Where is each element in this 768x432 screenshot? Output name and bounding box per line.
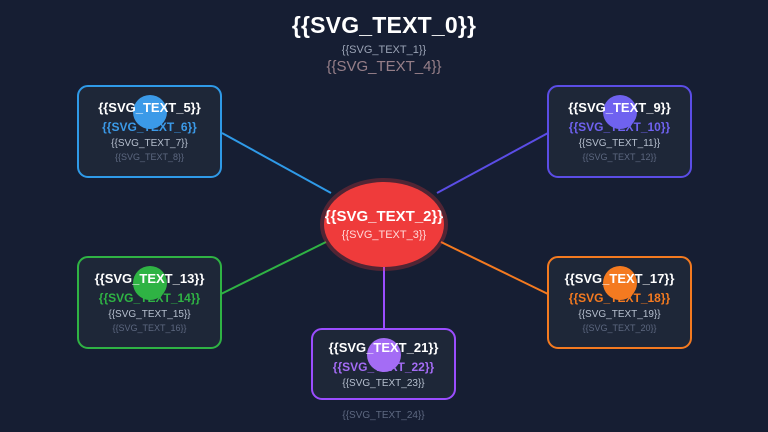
node-top-right-meta: {{SVG_TEXT_12}} [582,152,656,162]
edge-hub-bottom-right [441,242,548,294]
node-bottom-right[interactable]: {{SVG_TEXT_17}} {{SVG_TEXT_18}} {{SVG_TE… [547,256,692,349]
node-top-left-title: {{SVG_TEXT_5}} [98,101,201,115]
node-bottom-center-title: {{SVG_TEXT_21}} [329,341,439,355]
node-bottom-center-detail: {{SVG_TEXT_23}} [342,378,424,389]
node-bottom-left-detail: {{SVG_TEXT_15}} [108,309,190,320]
node-bottom-center-subtitle: {{SVG_TEXT_22}} [333,360,434,374]
edge-hub-bottom-left [221,242,326,294]
node-bottom-center[interactable]: {{SVG_TEXT_21}} {{SVG_TEXT_22}} {{SVG_TE… [311,328,456,400]
node-top-right-detail: {{SVG_TEXT_11}} [579,138,661,149]
node-bottom-right-detail: {{SVG_TEXT_19}} [578,309,660,320]
central-node-overflow-label: {{SVG_TEXT_4}} [326,58,441,75]
node-bottom-right-title: {{SVG_TEXT_17}} [565,272,675,286]
node-top-left-subtitle: {{SVG_TEXT_6}} [102,120,197,134]
node-top-left-detail: {{SVG_TEXT_7}} [111,138,188,149]
node-top-right-title: {{SVG_TEXT_9}} [568,101,671,115]
page-title: {{SVG_TEXT_0}} [0,12,768,39]
node-bottom-left-meta: {{SVG_TEXT_16}} [112,323,186,333]
node-bottom-center-caption: {{SVG_TEXT_24}} [311,410,456,421]
node-top-left-meta: {{SVG_TEXT_8}} [115,152,184,162]
node-bottom-left-subtitle: {{SVG_TEXT_14}} [99,291,200,305]
edge-hub-top-right [437,133,548,193]
central-node-subtitle: {{SVG_TEXT_3}} [342,229,426,241]
node-top-left[interactable]: {{SVG_TEXT_5}} {{SVG_TEXT_6}} {{SVG_TEXT… [77,85,222,178]
node-top-right-subtitle: {{SVG_TEXT_10}} [569,120,670,134]
node-bottom-right-subtitle: {{SVG_TEXT_18}} [569,291,670,305]
diagram-canvas: {{SVG_TEXT_0}} {{SVG_TEXT_1}} {{SVG_TEXT… [0,0,768,432]
central-node[interactable]: {{SVG_TEXT_2}} {{SVG_TEXT_3}} [324,182,444,267]
central-node-title: {{SVG_TEXT_2}} [325,208,443,225]
node-bottom-left[interactable]: {{SVG_TEXT_13}} {{SVG_TEXT_14}} {{SVG_TE… [77,256,222,349]
page-subtitle: {{SVG_TEXT_1}} [0,44,768,56]
node-bottom-left-title: {{SVG_TEXT_13}} [95,272,205,286]
edge-hub-top-left [222,133,331,193]
node-bottom-right-meta: {{SVG_TEXT_20}} [582,323,656,333]
node-top-right[interactable]: {{SVG_TEXT_9}} {{SVG_TEXT_10}} {{SVG_TEX… [547,85,692,178]
